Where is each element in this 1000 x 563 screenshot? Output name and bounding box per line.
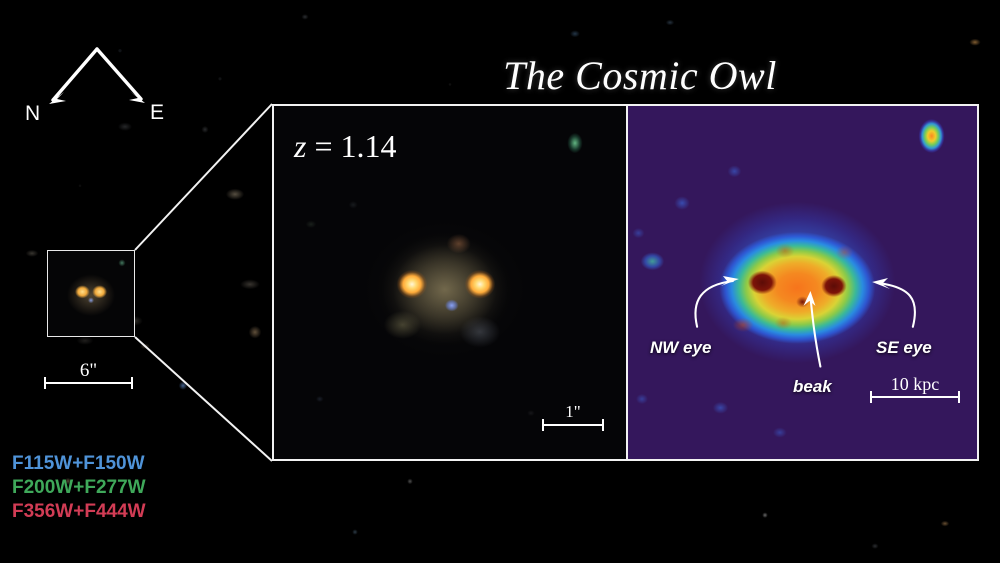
scalebar-1arcsec-label: 1" bbox=[542, 402, 604, 422]
scalebar-10kpc-bar bbox=[870, 396, 960, 398]
filter-legend: F115W+F150W F200W+F277W F356W+F444W bbox=[12, 452, 146, 524]
north-arrow-line bbox=[53, 49, 97, 100]
scalebar-6arcsec-label: 6" bbox=[44, 360, 133, 382]
scalebar-10kpc-label: 10 kpc bbox=[870, 374, 960, 395]
filter-legend-blue: F115W+F150W bbox=[12, 452, 146, 476]
redshift-equals: = bbox=[306, 128, 340, 164]
figure-title: The Cosmic Owl bbox=[430, 52, 850, 99]
scalebar-1arcsec: 1" bbox=[542, 402, 604, 426]
panel-emission-map: NW eye beak SE eye 10 kpc bbox=[626, 106, 977, 459]
panel-color-composite: z = 1.14 1" bbox=[274, 106, 626, 459]
redshift-label: z = 1.14 bbox=[294, 128, 397, 165]
compass-east-label: E bbox=[150, 101, 164, 124]
redshift-value: 1.14 bbox=[341, 128, 397, 164]
figure-canvas: N E 6" F115W+F150W F200W+F277W F356W+F44… bbox=[0, 0, 1000, 563]
source-inset-thumbnail bbox=[48, 251, 134, 336]
annotation-beak: beak bbox=[793, 377, 832, 397]
scalebar-6arcsec: 6" bbox=[44, 360, 133, 384]
scalebar-10kpc: 10 kpc bbox=[870, 374, 960, 398]
compass-north-label: N bbox=[25, 102, 40, 125]
compass-rose: N E bbox=[0, 0, 220, 160]
annotation-nw-eye: NW eye bbox=[650, 338, 711, 358]
scalebar-6arcsec-bar bbox=[44, 382, 133, 384]
owl-emission-image bbox=[628, 106, 977, 459]
annotation-se-eye: SE eye bbox=[876, 338, 932, 358]
panel-group: z = 1.14 1" NW eye beak SE eye bbox=[272, 104, 979, 461]
scalebar-1arcsec-bar bbox=[542, 424, 604, 426]
filter-legend-red: F356W+F444W bbox=[12, 500, 146, 524]
source-inset-box bbox=[47, 250, 135, 337]
east-arrow-line bbox=[97, 49, 141, 99]
filter-legend-green: F200W+F277W bbox=[12, 476, 146, 500]
redshift-symbol: z bbox=[294, 128, 306, 164]
